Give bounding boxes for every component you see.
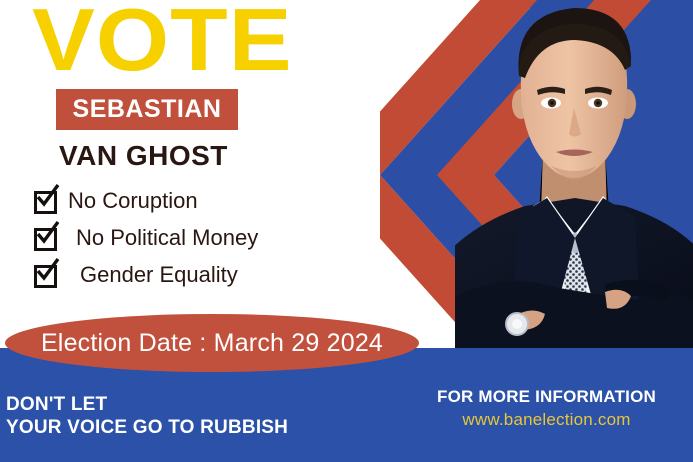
slogan-line-1: DON'T LET: [6, 393, 288, 416]
pledge-list: No Coruption No Political Money Gender E…: [33, 182, 363, 293]
campaign-slogan: DON'T LET YOUR VOICE GO TO RUBBISH: [6, 393, 288, 439]
list-item: Gender Equality: [33, 256, 363, 293]
candidate-first-name: SEBASTIAN: [56, 96, 238, 122]
candidate-first-name-banner: SEBASTIAN: [56, 89, 238, 130]
page-title: VOTE: [32, 0, 293, 84]
list-item: No Political Money: [33, 219, 363, 256]
checked-checkbox-icon: [33, 188, 59, 214]
pledge-label: Gender Equality: [68, 263, 238, 287]
checked-checkbox-icon: [33, 262, 59, 288]
campaign-poster: VOTE SEBASTIAN VAN GHOST No Coruption No…: [0, 0, 693, 462]
candidate-photo: [455, 0, 693, 348]
contact-url[interactable]: www.banelection.com: [400, 408, 693, 432]
checked-checkbox-icon: [33, 225, 59, 251]
contact-heading: FOR MORE INFORMATION: [400, 386, 693, 408]
election-date-text: Election Date : March 29 2024: [5, 328, 419, 358]
election-date-badge: Election Date : March 29 2024: [5, 314, 419, 372]
pledge-label: No Coruption: [68, 189, 198, 213]
contact-block: FOR MORE INFORMATION www.banelection.com: [400, 386, 693, 432]
slogan-line-2: YOUR VOICE GO TO RUBBISH: [6, 416, 288, 439]
list-item: No Coruption: [33, 182, 363, 219]
pledge-label: No Political Money: [68, 226, 258, 250]
candidate-last-name: VAN GHOST: [59, 140, 228, 172]
